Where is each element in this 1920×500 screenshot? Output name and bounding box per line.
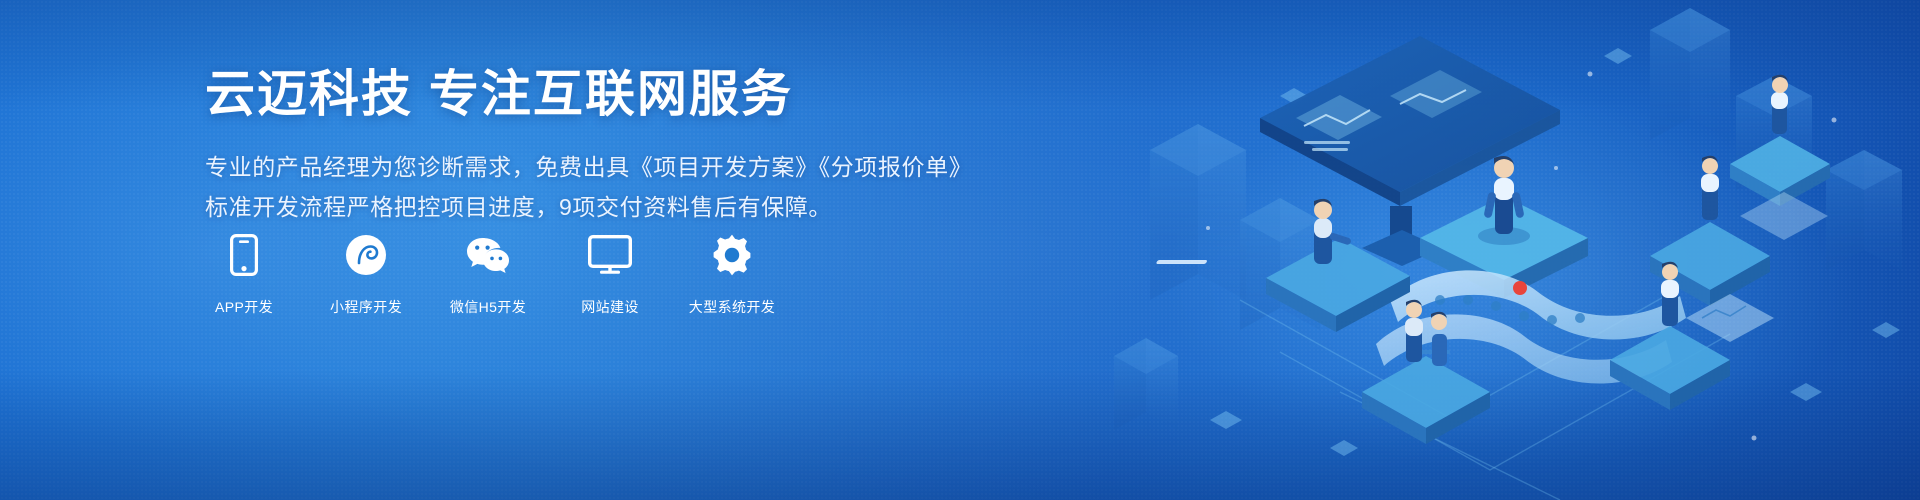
banner-copy: 云迈科技 专注互联网服务 专业的产品经理为您诊断需求，免费出具《项目开发方案》《… — [205, 66, 1065, 227]
service-item-wechat-h5[interactable]: 微信H5开发 — [449, 232, 527, 317]
monitor-icon — [588, 232, 632, 278]
service-label: APP开发 — [215, 297, 273, 317]
service-label: 微信H5开发 — [450, 297, 526, 317]
subtitle-line-2: 标准开发流程严格把控项目进度，9项交付资料售后有保障。 — [205, 188, 1065, 228]
service-item-mini-program[interactable]: 小程序开发 — [327, 232, 405, 317]
banner-subtitle: 专业的产品经理为您诊断需求，免费出具《项目开发方案》《分项报价单》 标准开发流程… — [205, 148, 1065, 227]
gear-icon — [711, 232, 753, 278]
wechat-icon — [465, 232, 511, 278]
service-item-large-system[interactable]: 大型系统开发 — [693, 232, 771, 317]
service-label: 小程序开发 — [330, 297, 402, 317]
mobile-phone-icon — [230, 232, 258, 278]
service-item-website[interactable]: 网站建设 — [571, 232, 649, 317]
mini-program-icon — [345, 232, 387, 278]
isometric-illustration — [1090, 0, 1920, 500]
service-list: APP开发 小程序开发 微信 — [205, 232, 771, 317]
promo-banner: 云迈科技 专注互联网服务 专业的产品经理为您诊断需求，免费出具《项目开发方案》《… — [0, 0, 1920, 500]
service-label: 大型系统开发 — [689, 297, 775, 317]
page-title: 云迈科技 专注互联网服务 — [205, 66, 1065, 122]
service-item-app[interactable]: APP开发 — [205, 232, 283, 317]
service-label: 网站建设 — [581, 297, 639, 317]
subtitle-line-1: 专业的产品经理为您诊断需求，免费出具《项目开发方案》《分项报价单》 — [205, 148, 1065, 188]
